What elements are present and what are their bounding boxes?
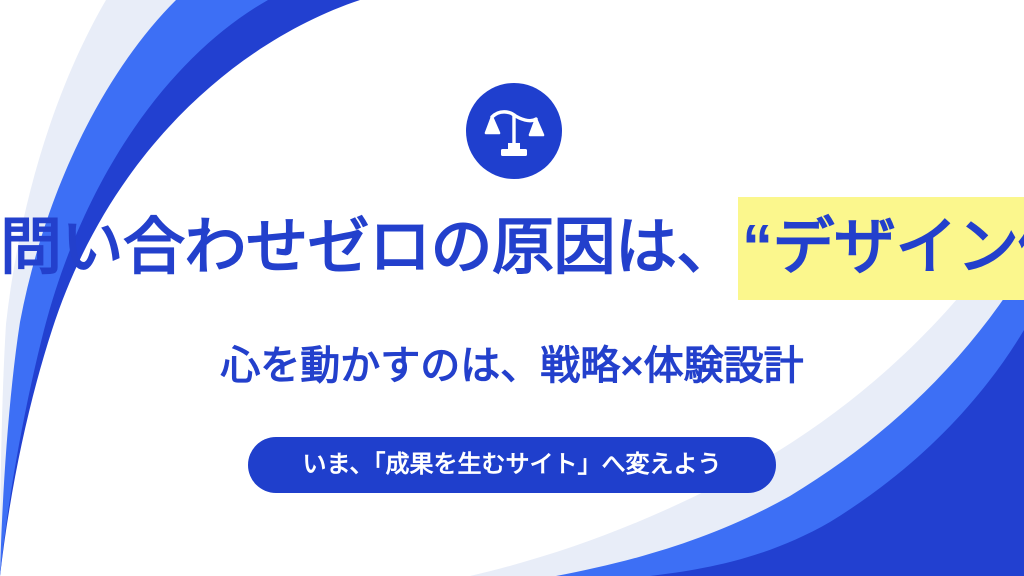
slide-canvas: 問い合わせゼロの原因は、“デザイン偏重” 心を動かすのは、戦略×体験設計 いま、… xyxy=(0,0,1024,576)
headline-plain-text: 問い合わせゼロの原因は、 xyxy=(0,213,738,282)
balance-scales-glyph xyxy=(482,99,546,163)
cta-container: いま、「成果を生むサイト」へ変えよう xyxy=(0,437,1024,493)
headline-highlighted-text: “デザイン偏重” xyxy=(738,197,1024,300)
balance-scales-icon xyxy=(466,83,562,179)
decor-br-bright-layer xyxy=(556,268,1024,576)
cta-button[interactable]: いま、「成果を生むサイト」へ変えよう xyxy=(248,437,775,493)
page-title: 問い合わせゼロの原因は、“デザイン偏重” xyxy=(0,200,1024,296)
subheading: 心を動かすのは、戦略×体験設計 xyxy=(0,335,1024,397)
